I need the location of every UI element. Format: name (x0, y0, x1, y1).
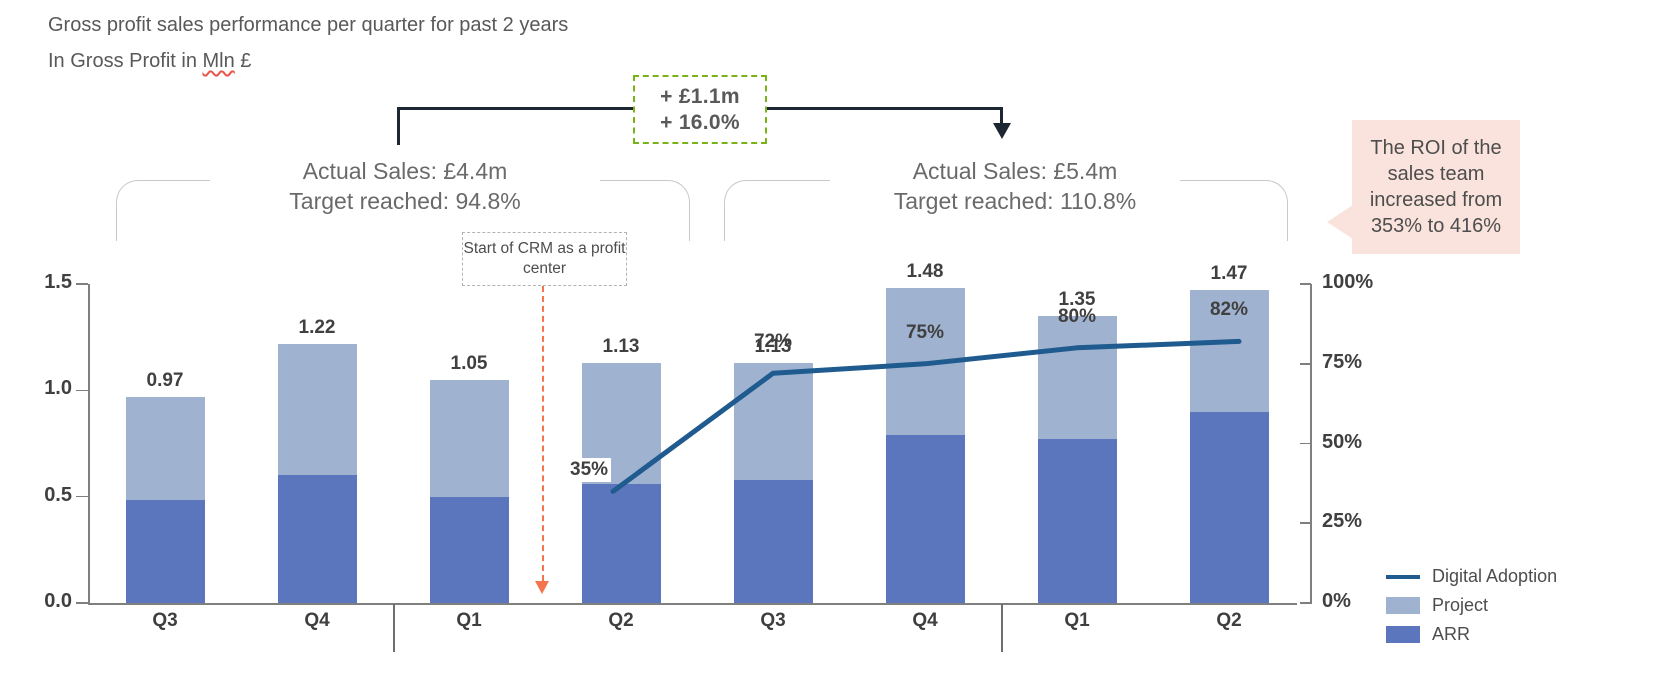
page-subtitle: In Gross Profit in Mln £ (48, 50, 251, 73)
x-axis-label-q1-2: Q1 (409, 610, 529, 632)
y-axis-right-tick (1300, 602, 1311, 604)
legend-swatch-icon (1386, 626, 1420, 643)
stacked-bar[interactable] (1038, 316, 1117, 603)
crm-annotation-text: Start of CRM as a profit center (463, 239, 626, 279)
crm-annotation-arrow-icon (535, 581, 549, 594)
y-axis-right-tick (1300, 283, 1311, 285)
bar-segment-project[interactable] (430, 380, 509, 497)
bar-segment-project[interactable] (886, 288, 965, 435)
bar-segment-project[interactable] (126, 397, 205, 500)
x-axis-label-q2-3: Q2 (561, 610, 681, 632)
bar-segment-arr[interactable] (126, 500, 205, 603)
legend-swatch-icon (1386, 597, 1420, 614)
legend-label: Digital Adoption (1432, 566, 1557, 587)
y-axis-right-tick (1300, 443, 1311, 445)
legend-line-icon (1386, 575, 1420, 579)
x-axis-label-q1-6: Q1 (1017, 610, 1137, 632)
y-axis-left-tick-label: 0.5 (12, 484, 72, 507)
bar-segment-arr[interactable] (430, 497, 509, 603)
bar-segment-project[interactable] (1038, 316, 1117, 439)
y-axis-left-tick (76, 283, 88, 285)
bar-total-label: 1.47 (1169, 263, 1289, 285)
digital-adoption-point-label: 80% (1022, 306, 1132, 328)
roi-callout: The ROI of the sales team increased from… (1352, 120, 1520, 254)
stacked-bar[interactable] (1190, 290, 1269, 603)
x-axis-label-q2-7: Q2 (1169, 610, 1289, 632)
bar-total-label: 0.97 (105, 370, 225, 392)
y-axis-left-tick (76, 496, 88, 498)
group-left-actual-sales: Actual Sales: £4.4m (180, 156, 630, 186)
digital-adoption-point-label: 72% (718, 331, 828, 353)
group-left-target-reached: Target reached: 94.8% (180, 186, 630, 216)
x-axis-group-separator (393, 604, 395, 652)
bar-segment-project[interactable] (734, 363, 813, 480)
group-right-actual-sales: Actual Sales: £5.4m (790, 156, 1240, 186)
crm-annotation-box: Start of CRM as a profit center (462, 232, 627, 286)
growth-callout-box: + £1.1m + 16.0% (633, 75, 767, 144)
y-axis-right-tick-label: 100% (1322, 271, 1388, 294)
group-summary-left: Actual Sales: £4.4m Target reached: 94.8… (180, 156, 630, 217)
roi-callout-text: The ROI of the sales team increased from… (1360, 135, 1512, 239)
stacked-bar[interactable] (430, 380, 509, 603)
y-axis-left-tick (76, 602, 88, 604)
stacked-bar[interactable] (734, 363, 813, 603)
growth-arrow-icon (993, 123, 1011, 139)
y-axis-left-tick-label: 1.0 (12, 377, 72, 400)
x-axis-label-q4-5: Q4 (865, 610, 985, 632)
bar-segment-arr[interactable] (582, 484, 661, 603)
digital-adoption-point-label: 35% (567, 458, 611, 482)
y-axis-left-tick (76, 390, 88, 392)
y-axis-left-tick-label: 0.0 (12, 590, 72, 613)
legend-item-arr[interactable]: ARR (1386, 620, 1646, 649)
subtitle-suffix: £ (235, 50, 252, 72)
bar-total-label: 1.48 (865, 261, 985, 283)
subtitle-prefix: In Gross Profit in (48, 50, 203, 72)
x-axis-label-q4-1: Q4 (257, 610, 377, 632)
legend-label: Project (1432, 595, 1488, 616)
growth-percent-label: + 16.0% (660, 110, 740, 136)
y-axis-right-tick (1300, 363, 1311, 365)
group-summary-right: Actual Sales: £5.4m Target reached: 110.… (790, 156, 1240, 217)
x-axis-label-q3-0: Q3 (105, 610, 225, 632)
crm-annotation-arrow-line (542, 286, 544, 581)
y-axis-left-tick-label: 1.5 (12, 271, 72, 294)
digital-adoption-point-label: 82% (1174, 299, 1284, 321)
x-axis-group-separator (1001, 604, 1003, 652)
legend-item-digital-adoption[interactable]: Digital Adoption (1386, 562, 1646, 591)
legend-label: ARR (1432, 624, 1470, 645)
stacked-bar[interactable] (278, 344, 357, 603)
group-right-target-reached: Target reached: 110.8% (790, 186, 1240, 216)
digital-adoption-point-label: 75% (870, 322, 980, 344)
bar-segment-arr[interactable] (1038, 439, 1117, 603)
y-axis-right-tick-label: 0% (1322, 590, 1388, 613)
bar-segment-arr[interactable] (886, 435, 965, 603)
page-title: Gross profit sales performance per quart… (48, 14, 568, 37)
growth-bracket-left-stub (397, 107, 400, 145)
y-axis-right-tick-label: 50% (1322, 431, 1388, 454)
subtitle-misspelled-word: Mln (203, 50, 235, 72)
roi-callout-arrow-icon (1327, 205, 1353, 239)
y-axis-right-tick (1300, 522, 1311, 524)
growth-amount-label: + £1.1m (660, 84, 740, 110)
bar-total-label: 1.05 (409, 353, 529, 375)
bar-total-label: 1.22 (257, 317, 377, 339)
bar-segment-arr[interactable] (1190, 412, 1269, 603)
y-axis-left (88, 284, 90, 604)
bar-segment-arr[interactable] (278, 475, 357, 603)
legend-item-project[interactable]: Project (1386, 591, 1646, 620)
stacked-bar[interactable] (126, 397, 205, 603)
bar-total-label: 1.13 (561, 336, 681, 358)
chart-legend: Digital AdoptionProjectARR (1386, 562, 1646, 649)
stacked-bar[interactable] (582, 363, 661, 603)
y-axis-right-tick-label: 75% (1322, 351, 1388, 374)
bar-segment-arr[interactable] (734, 480, 813, 603)
x-axis-label-q3-4: Q3 (713, 610, 833, 632)
bar-segment-project[interactable] (278, 344, 357, 476)
x-axis-baseline (88, 603, 1297, 605)
y-axis-right-tick-label: 25% (1322, 510, 1388, 533)
